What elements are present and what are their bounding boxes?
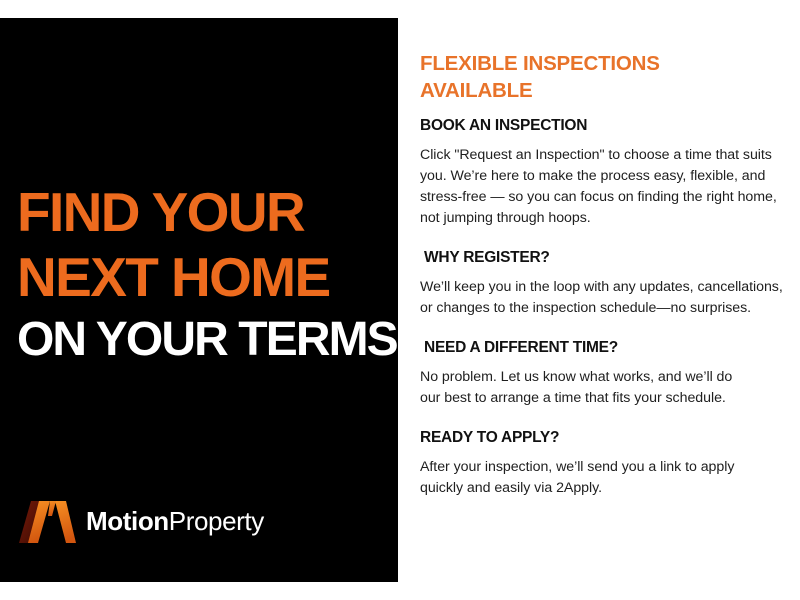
hero-panel: FIND YOUR NEXT HOME ON YOUR TERMS — [0, 18, 398, 582]
section-heading-why-register: WHY REGISTER? — [420, 248, 792, 268]
section-heading-need-a-different-time: NEED A DIFFERENT TIME? — [420, 338, 792, 358]
section-body-book-an-inspection: Click "Request an Inspection" to choose … — [420, 145, 792, 229]
section-need-a-different-time: NEED A DIFFERENT TIME? No problem. Let u… — [420, 338, 792, 409]
hero-headline-line-3: ON YOUR TERMS — [17, 316, 398, 363]
logo-word-primary: Motion — [86, 506, 169, 536]
hero-headline-line-2: NEXT HOME — [17, 251, 398, 305]
section-book-an-inspection: BOOK AN INSPECTION Click "Request an Ins… — [420, 116, 792, 229]
section-body-why-register: We’ll keep you in the loop with any upda… — [420, 277, 792, 319]
motion-m-mark-icon — [19, 498, 77, 544]
hero-headline-line-1: FIND YOUR — [17, 186, 398, 240]
brand-logo: MotionProperty — [19, 498, 264, 544]
hero-headline: FIND YOUR NEXT HOME ON YOUR TERMS — [17, 186, 398, 363]
section-heading-book-an-inspection: BOOK AN INSPECTION — [420, 116, 792, 136]
logo-wordmark: MotionProperty — [86, 508, 264, 534]
section-ready-to-apply: READY TO APPLY? After your inspection, w… — [420, 428, 792, 499]
section-body-need-a-different-time: No problem. Let us know what works, and … — [420, 367, 750, 409]
content-column: FLEXIBLE INSPECTIONS AVAILABLE BOOK AN I… — [420, 50, 792, 517]
section-body-ready-to-apply: After your inspection, we’ll send you a … — [420, 457, 750, 499]
section-heading-ready-to-apply: READY TO APPLY? — [420, 428, 792, 448]
content-title: FLEXIBLE INSPECTIONS AVAILABLE — [420, 50, 690, 104]
section-why-register: WHY REGISTER? We’ll keep you in the loop… — [420, 248, 792, 319]
logo-word-secondary: Property — [169, 506, 264, 536]
